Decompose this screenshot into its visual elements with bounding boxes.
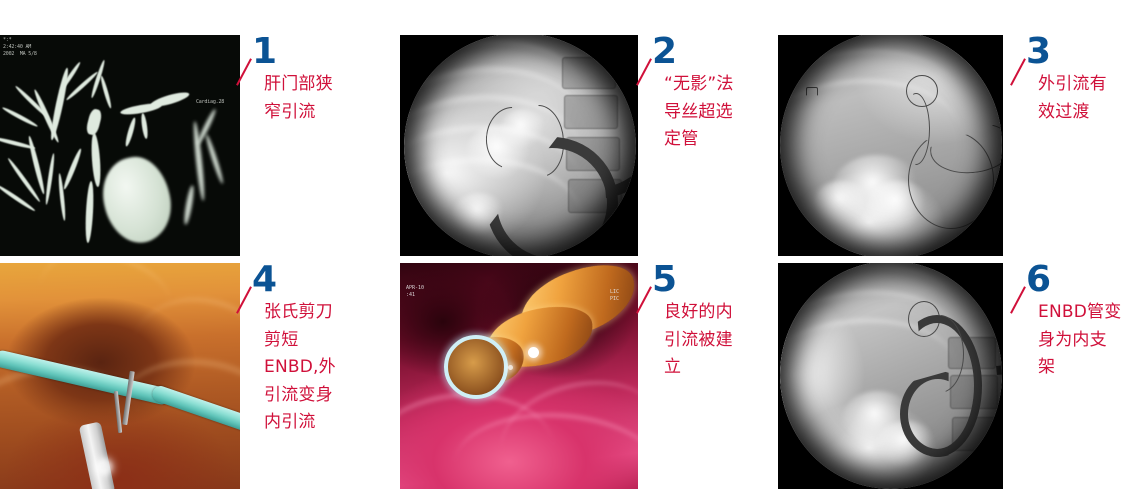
panel-3-number: 3 bbox=[1026, 35, 1130, 69]
panel-5-image: APR-10 :41 LIC PIC bbox=[400, 263, 638, 489]
panel-1-caption: 1 肝门部狭 窄引流 bbox=[252, 35, 380, 126]
panel-2-slash-mark bbox=[636, 58, 652, 85]
panel-4-number: 4 bbox=[252, 263, 380, 297]
panel-5-overlay-text: APR-10 :41 bbox=[406, 285, 424, 298]
panel-4: 4 张氏剪刀 剪短 ENBD,外 引流变身 内引流 bbox=[0, 263, 380, 489]
panel-5-number: 5 bbox=[652, 263, 780, 297]
panel-5-slash-mark bbox=[636, 286, 652, 313]
panel-2-caption: 2 “无影”法 导丝超选 定管 bbox=[652, 35, 780, 154]
panel-4-caption-text: 张氏剪刀 剪短 ENBD,外 引流变身 内引流 bbox=[264, 299, 380, 437]
panel-5-caption-text: 良好的内 引流被建 立 bbox=[664, 299, 780, 382]
panel-1: *:* 2:42:40 AM 2002 MA 5/8 Cardiag.28 1 … bbox=[0, 35, 380, 256]
figure-grid: *:* 2:42:40 AM 2002 MA 5/8 Cardiag.28 1 … bbox=[0, 0, 1130, 489]
panel-1-corner-text: Cardiag.28 bbox=[196, 99, 224, 106]
panel-2-caption-text: “无影”法 导丝超选 定管 bbox=[664, 71, 780, 154]
panel-3: 3 外引流有 效过渡 bbox=[778, 35, 1130, 256]
panel-2-image bbox=[400, 35, 638, 256]
panel-4-image bbox=[0, 263, 240, 489]
panel-6-caption-text: ENBD管变 身为内支 架 bbox=[1038, 299, 1130, 382]
panel-3-slash-mark bbox=[1010, 58, 1026, 85]
panel-4-caption: 4 张氏剪刀 剪短 ENBD,外 引流变身 内引流 bbox=[252, 263, 380, 437]
panel-6-number: 6 bbox=[1026, 263, 1130, 297]
panel-3-caption: 3 外引流有 效过渡 bbox=[1026, 35, 1130, 126]
panel-1-image: *:* 2:42:40 AM 2002 MA 5/8 Cardiag.28 bbox=[0, 35, 240, 256]
panel-1-number: 1 bbox=[252, 35, 380, 69]
panel-2: 2 “无影”法 导丝超选 定管 bbox=[400, 35, 780, 256]
panel-3-image bbox=[778, 35, 1003, 256]
panel-6-image bbox=[778, 263, 1003, 489]
panel-5: APR-10 :41 LIC PIC 5 良好的内 引流被建 立 bbox=[400, 263, 780, 489]
panel-6: 6 ENBD管变 身为内支 架 bbox=[778, 263, 1130, 489]
panel-6-slash-mark bbox=[1010, 286, 1026, 313]
panel-5-corner-text: LIC PIC bbox=[610, 289, 619, 302]
panel-1-caption-text: 肝门部狭 窄引流 bbox=[264, 71, 380, 126]
panel-6-caption: 6 ENBD管变 身为内支 架 bbox=[1026, 263, 1130, 382]
panel-2-number: 2 bbox=[652, 35, 780, 69]
panel-5-caption: 5 良好的内 引流被建 立 bbox=[652, 263, 780, 382]
panel-1-overlay-text: *:* 2:42:40 AM 2002 MA 5/8 bbox=[3, 37, 37, 57]
panel-3-caption-text: 外引流有 效过渡 bbox=[1038, 71, 1130, 126]
